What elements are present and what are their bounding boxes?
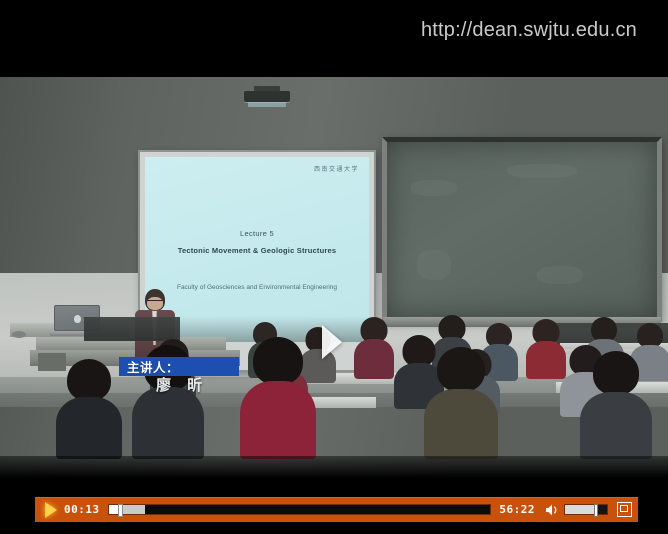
mouse-device <box>12 331 26 338</box>
audience-member <box>240 337 316 459</box>
seek-bar[interactable] <box>108 504 492 515</box>
volume-slider[interactable] <box>564 504 608 515</box>
speaker-icon[interactable] <box>544 502 560 518</box>
video-bottom-shade <box>0 456 668 478</box>
audience-member <box>56 359 122 459</box>
video-player[interactable]: http://dean.swjtu.edu.cn 西南交通大学 Lecture … <box>0 0 668 534</box>
player-control-bar[interactable]: 00:13 56:22 <box>35 497 638 522</box>
volume-handle[interactable] <box>594 504 598 517</box>
watermark-url: http://dean.swjtu.edu.cn <box>421 19 637 42</box>
letterbox-top: http://dean.swjtu.edu.cn <box>0 0 668 77</box>
duration-label: 56:22 <box>499 503 535 516</box>
slide-lecture-label: Lecture 5 <box>145 229 369 238</box>
play-triangle-icon[interactable] <box>322 325 342 359</box>
slide-title: Tectonic Movement & Geologic Structures <box>145 246 369 255</box>
wall-unit <box>84 317 180 341</box>
audience-member <box>354 317 394 379</box>
current-time-label: 00:13 <box>64 503 100 516</box>
seek-played <box>109 505 118 514</box>
fullscreen-icon[interactable] <box>617 502 632 517</box>
projector-icon <box>244 86 290 108</box>
seek-handle[interactable] <box>118 504 123 517</box>
audience-member <box>424 347 498 459</box>
slide-faculty: Faculty of Geosciences and Environmental… <box>159 283 355 293</box>
apple-logo-icon <box>74 315 81 323</box>
video-frame[interactable]: 西南交通大学 Lecture 5 Tectonic Movement & Geo… <box>0 77 668 478</box>
audience-member <box>580 351 652 459</box>
speaker-name-text: 廖 昕 <box>156 374 208 395</box>
chalkboard <box>382 137 662 322</box>
glasses-icon <box>147 300 163 303</box>
play-icon[interactable] <box>41 500 60 519</box>
slide-university-logo: 西南交通大学 <box>314 164 359 173</box>
volume-fill <box>565 505 594 514</box>
